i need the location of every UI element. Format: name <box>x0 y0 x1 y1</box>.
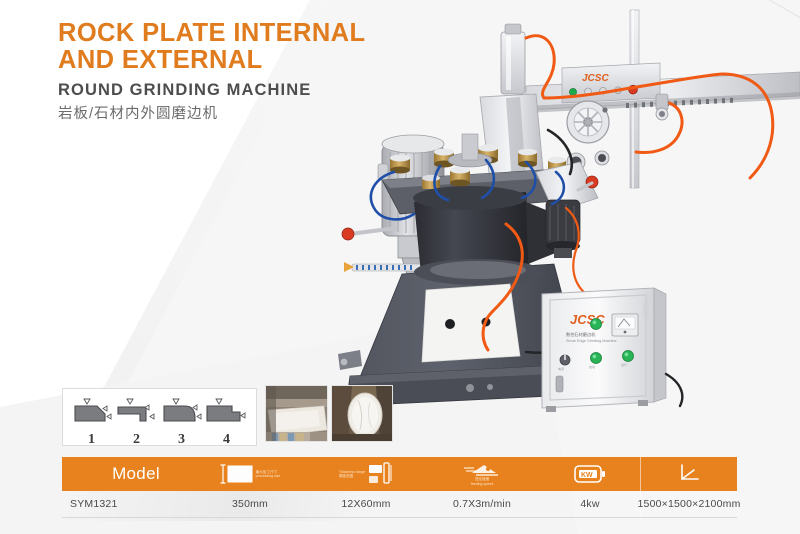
spec-table-underline <box>62 517 737 518</box>
cell-model: SYM1321 <box>62 491 192 517</box>
round-stone-disc-photo <box>331 385 393 442</box>
edge-profile-panel: 1 2 3 4 <box>62 388 257 446</box>
spec-header-dimension <box>640 457 737 491</box>
spec-header-power: KW <box>540 457 640 491</box>
profile-arrow-top-3 <box>173 399 179 404</box>
profile-number-2: 2 <box>114 432 159 448</box>
feeding-speed-icon: 进给速度 feeding speed <box>462 462 502 486</box>
profile-item-3: 3 <box>159 394 204 448</box>
spec-header-processing-size: 最大加工尺寸 processing size <box>192 457 308 491</box>
spec-header-thickness-range: Thickness range 厚度范围 <box>308 457 424 491</box>
max-processing-size-icon: 最大加工尺寸 processing size <box>220 462 281 486</box>
stone-slab-photo <box>265 385 328 442</box>
cabinet-start-button <box>591 353 602 364</box>
profile-item-4: 4 <box>204 394 249 448</box>
profile-arrow-side-4 <box>241 413 245 418</box>
max-processing-size-label: 最大加工尺寸 processing size <box>256 470 281 479</box>
spec-table: Model 最大加工尺寸 processing size <box>62 457 737 517</box>
feeding-speed-label: 进给速度 feeding speed <box>471 477 494 486</box>
product-brochure-page: ROCK PLATE INTERNAL AND EXTERNAL ROUND G… <box>0 0 800 534</box>
profile-arrow-side-3 <box>197 414 201 419</box>
cell-dimension: 1500×1500×2100mm <box>640 491 737 517</box>
page-title-block: ROCK PLATE INTERNAL AND EXTERNAL ROUND G… <box>58 20 365 125</box>
pneumatic-cylinder <box>501 32 525 94</box>
profile-number-3: 3 <box>159 432 204 448</box>
svg-text:KW: KW <box>581 472 593 479</box>
svg-text:运行: 运行 <box>621 362 627 367</box>
spec-header-model: Model <box>62 457 192 491</box>
profile-number-1: 1 <box>69 432 114 448</box>
cabinet-power-cable <box>666 374 682 406</box>
svg-text:启动: 启动 <box>589 364 595 369</box>
cell-thickness-range: 12X60mm <box>308 491 424 517</box>
machine-illustration: JCSC <box>330 2 800 422</box>
profile-arrow-top-4 <box>216 399 222 404</box>
thickness-range-icon: Thickness range 厚度范围 <box>339 461 393 487</box>
overall-dimension-icon <box>674 462 704 486</box>
profile-arrow-top-2 <box>127 399 133 404</box>
cabinet-run-button <box>623 351 634 362</box>
svg-text:电源: 电源 <box>558 366 564 371</box>
cabinet-door-handle <box>556 376 563 392</box>
title-line-2: AND EXTERNAL <box>58 47 365 74</box>
title-line-3: ROUND GRINDING MACHINE <box>58 77 365 103</box>
cell-power: 4kw <box>540 491 640 517</box>
spec-header-feeding-speed: 进给速度 feeding speed <box>424 457 540 491</box>
profile-item-2: 2 <box>114 394 159 448</box>
cabinet-subtitle-cn: 数控石材磨边机 <box>566 331 596 338</box>
profile-arrow-side-1 <box>107 414 111 419</box>
profile-arrow-corner-1 <box>103 406 107 411</box>
title-line-1: ROCK PLATE INTERNAL <box>58 20 365 47</box>
profile-arrow-corner-3 <box>193 405 197 410</box>
cabinet-subtitle-en: Stone Edge Grinding Machine <box>566 339 617 343</box>
cabinet-indicator-lamp <box>591 319 602 330</box>
handwheel <box>567 101 609 143</box>
table-row: SYM1321 350mm 12X60mm 0.7X3m/min 4kw 150… <box>62 491 737 517</box>
profile-number-4: 4 <box>204 432 249 448</box>
profile-item-1: 1 <box>69 394 114 448</box>
thickness-range-label: Thickness range 厚度范围 <box>339 470 365 479</box>
arm-logo-text: JCSC <box>582 73 609 84</box>
cell-processing-size: 350mm <box>192 491 308 517</box>
control-cabinet: JCSC 数控石材磨边机 Stone Edge Grinding Machine… <box>542 288 682 412</box>
cell-feeding-speed: 0.7X3m/min <box>424 491 540 517</box>
profile-arrow-side-2 <box>150 414 154 419</box>
spec-table-header-row: Model 最大加工尺寸 processing size <box>62 457 737 491</box>
profile-arrow-top-1 <box>84 399 90 404</box>
power-kw-icon: KW <box>573 463 607 485</box>
title-line-4-chinese: 岩板/石材内外圆磨边机 <box>58 103 365 125</box>
air-regulator <box>656 94 668 120</box>
